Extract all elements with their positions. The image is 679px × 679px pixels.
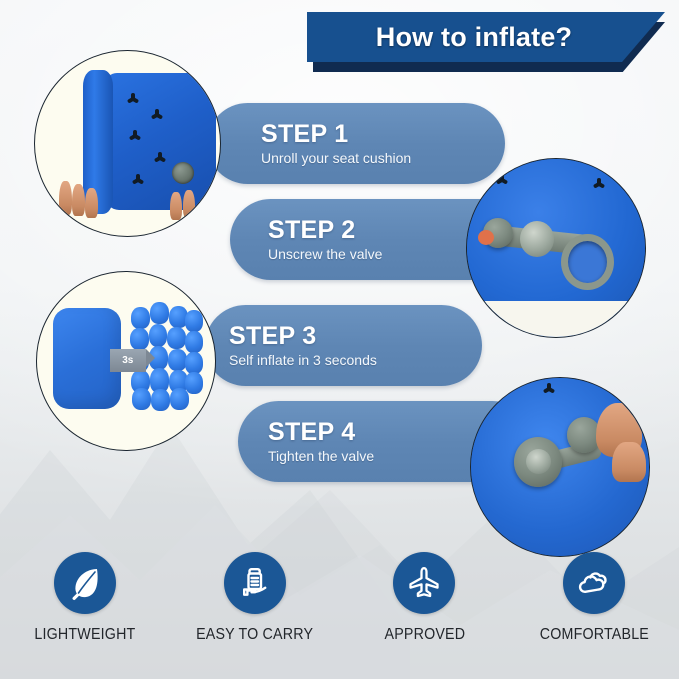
step-3-description: Self inflate in 3 seconds (229, 352, 482, 369)
finger-right-1 (170, 192, 182, 220)
step-3-title: STEP 3 (229, 323, 482, 349)
feature-comfortable: COMFORTABLE (514, 552, 674, 644)
page-title: How to inflate? (376, 22, 572, 53)
infographic-canvas: How to inflate? STEP 1 Unroll your seat … (0, 0, 679, 679)
photo-unscrew-valve-art (467, 159, 645, 337)
valve-opening-ring (561, 234, 614, 291)
cloud-icon (563, 552, 625, 614)
step-1-title: STEP 1 (261, 121, 505, 147)
inflate-time-badge: 3s (110, 349, 146, 372)
step-1-card: STEP 1 Unroll your seat cushion (207, 103, 505, 184)
feature-easy-to-carry: EASY TO CARRY (175, 552, 335, 644)
photo-self-inflate-diagram: 3s (36, 271, 216, 451)
banner-plate: How to inflate? (307, 12, 665, 62)
strap-tab (478, 230, 494, 245)
finger-left-3 (85, 188, 98, 218)
feature-approved-label: APPROVED (384, 626, 465, 644)
valve-cap-open (520, 221, 554, 257)
hand-holding-bag-icon (224, 552, 286, 614)
feature-approved: APPROVED (344, 552, 504, 644)
feature-row: LIGHTWEIGHT EASY TO CARRY (0, 552, 679, 662)
photo-unscrew-valve (466, 158, 646, 338)
feather-icon (54, 552, 116, 614)
feature-easy-to-carry-label: EASY TO CARRY (196, 626, 313, 644)
cushion-sheet (105, 73, 216, 210)
step-3-card: STEP 3 Self inflate in 3 seconds (205, 305, 482, 386)
photo-unroll-cushion (34, 50, 221, 237)
finger-right-2 (183, 190, 195, 218)
feature-comfortable-label: COMFORTABLE (539, 626, 648, 644)
photo-unroll-cushion-art (35, 51, 220, 236)
photo-tighten-valve (470, 377, 650, 557)
title-banner: How to inflate? (307, 12, 671, 74)
feature-lightweight: LIGHTWEIGHT (5, 552, 165, 644)
finger-left-1 (59, 181, 72, 215)
valve-cap-tightened (526, 449, 551, 474)
photo-self-inflate-art: 3s (37, 272, 215, 450)
cushion-valve (172, 162, 194, 184)
finger-left-2 (72, 184, 85, 216)
airplane-icon (393, 552, 455, 614)
photo-tighten-valve-art (471, 378, 649, 556)
hand-finger (612, 442, 646, 482)
feature-lightweight-label: LIGHTWEIGHT (34, 626, 135, 644)
